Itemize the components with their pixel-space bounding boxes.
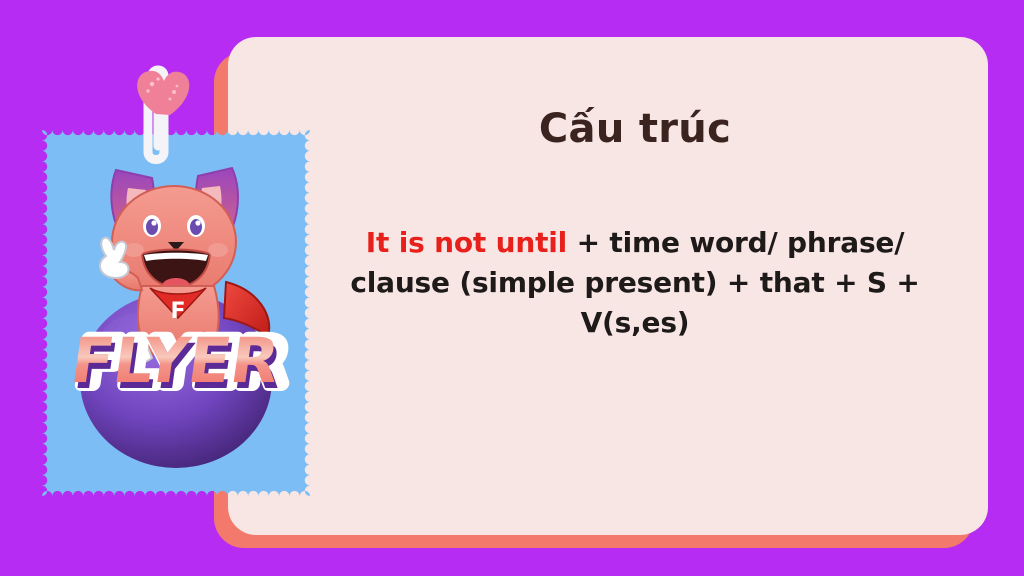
flyer-stamp-card: F	[42, 130, 310, 496]
flyer-wordmark: FLYER FLYER FLYER	[50, 312, 302, 408]
page-title: Cấu trúc	[539, 109, 731, 149]
structure-highlight: It is not until	[366, 226, 567, 259]
content-card-body: Cấu trúc It is not until + time word/ ph…	[290, 37, 980, 535]
slide-canvas: Cấu trúc It is not until + time word/ ph…	[0, 0, 1024, 576]
grammar-structure-text: It is not until + time word/ phrase/ cla…	[320, 223, 950, 343]
flyer-text-face: FLYER	[66, 324, 283, 397]
heart-paperclip	[118, 58, 198, 176]
